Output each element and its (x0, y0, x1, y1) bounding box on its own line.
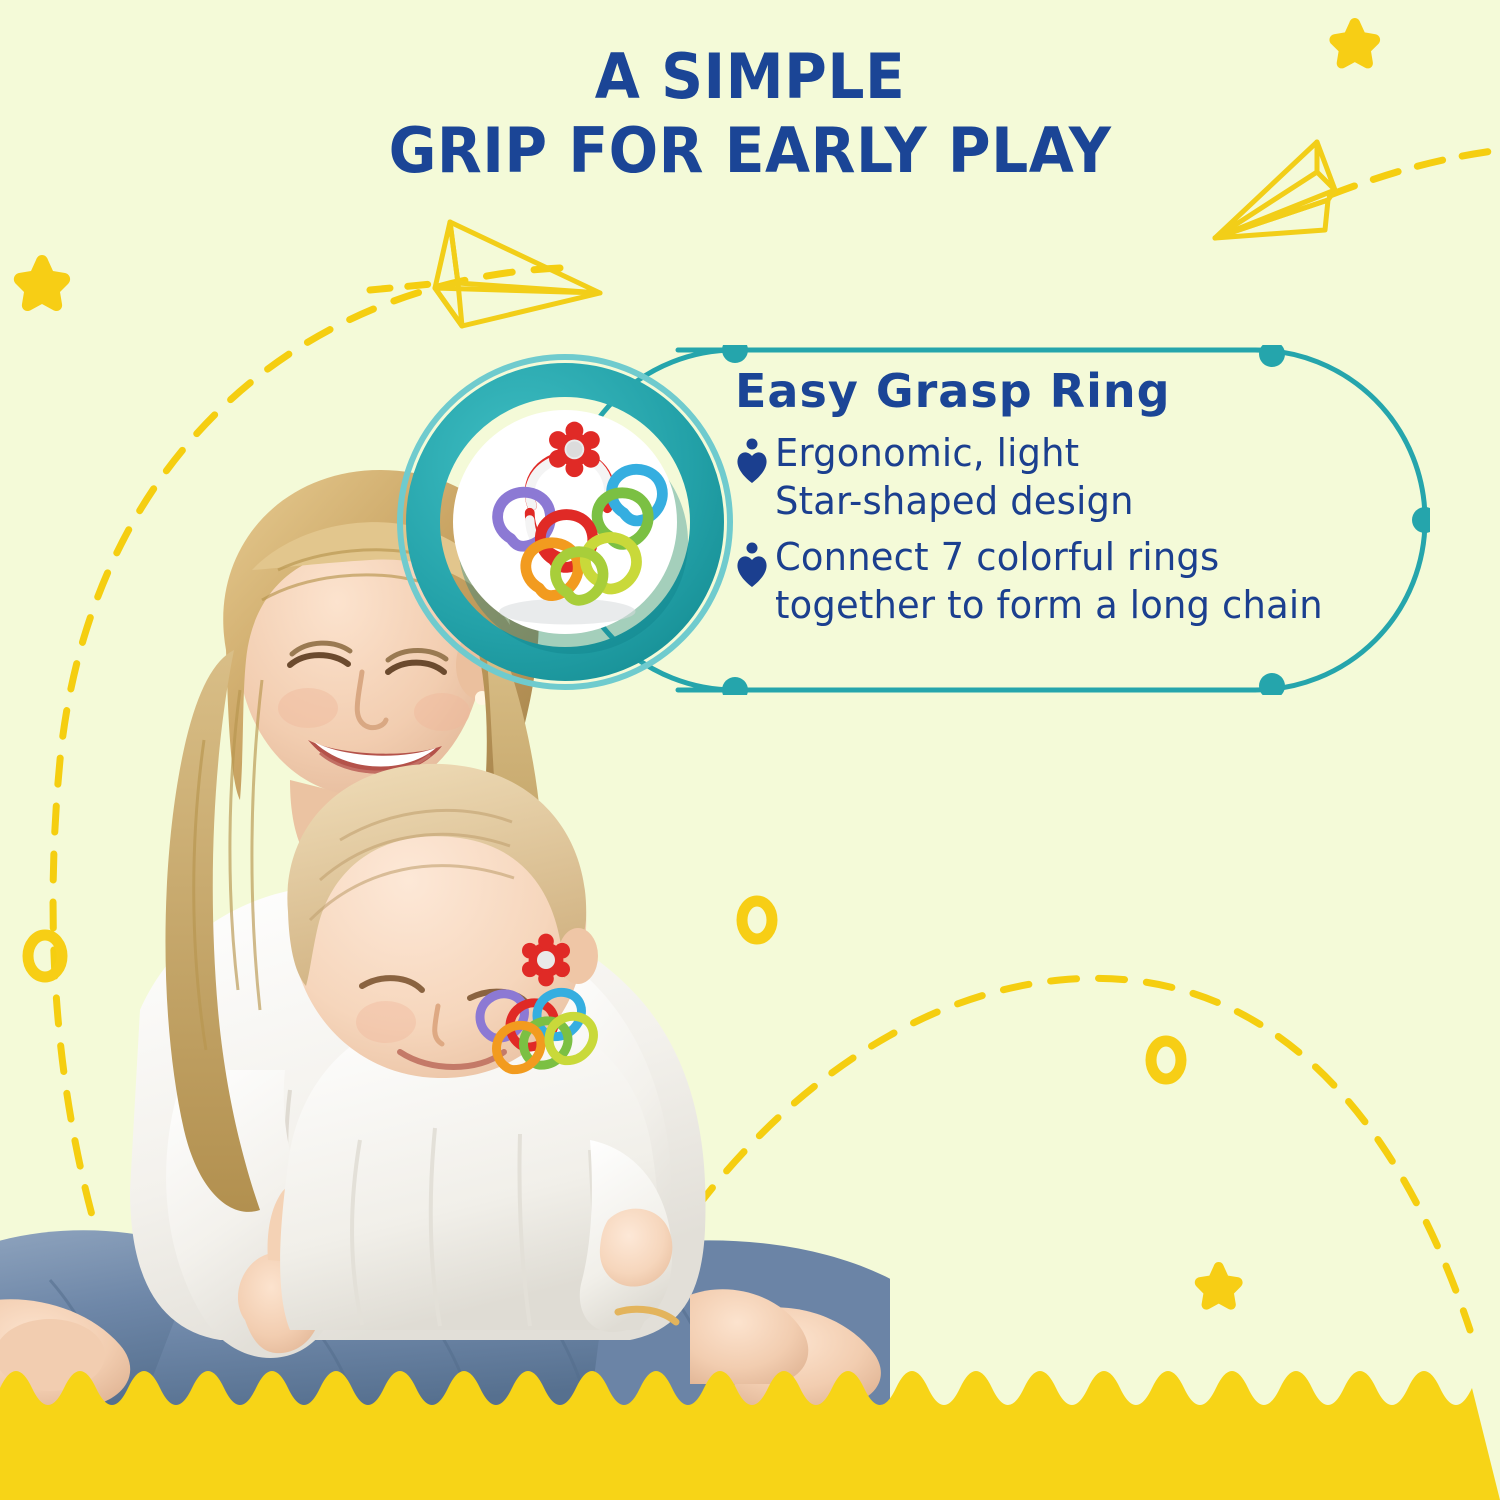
feature-bullet: Connect 7 colorful rings together to for… (735, 533, 1425, 629)
paper-plane-left-icon (435, 222, 600, 326)
feature-bullet: Ergonomic, light Star-shaped design (735, 429, 1425, 525)
bullet-2-line-1: Connect 7 colorful rings (775, 533, 1323, 581)
heart-bullet-icon (735, 435, 769, 487)
headline-line-1: A SIMPLE (45, 40, 1455, 114)
page-title: A SIMPLE GRIP FOR EARLY PLAY (0, 40, 1500, 188)
feature-bullet-text: Ergonomic, light Star-shaped design (775, 429, 1134, 525)
feature-text-block: Easy Grasp Ring Ergonomic, light Star-sh… (735, 363, 1425, 637)
headline-line-2: GRIP FOR EARLY PLAY (45, 114, 1455, 188)
yellow-scallop-band (0, 1340, 1500, 1500)
feature-title: Easy Grasp Ring (735, 363, 1425, 419)
star-icon-bottom-right (1195, 1262, 1243, 1310)
product-image-badge (395, 352, 735, 692)
dashed-trail-left (370, 284, 432, 290)
heart-bullet-icon (735, 539, 769, 591)
bullet-1-line-2: Star-shaped design (775, 477, 1134, 525)
infographic-canvas: A SIMPLE GRIP FOR EARLY PLAY (0, 0, 1500, 1500)
star-icon-left (14, 255, 70, 311)
feature-bullet-text: Connect 7 colorful rings together to for… (775, 533, 1323, 629)
bullet-2-line-2: together to form a long chain (775, 581, 1323, 629)
bullet-1-line-1: Ergonomic, light (775, 429, 1134, 477)
ring-icon-right (1151, 1041, 1181, 1079)
